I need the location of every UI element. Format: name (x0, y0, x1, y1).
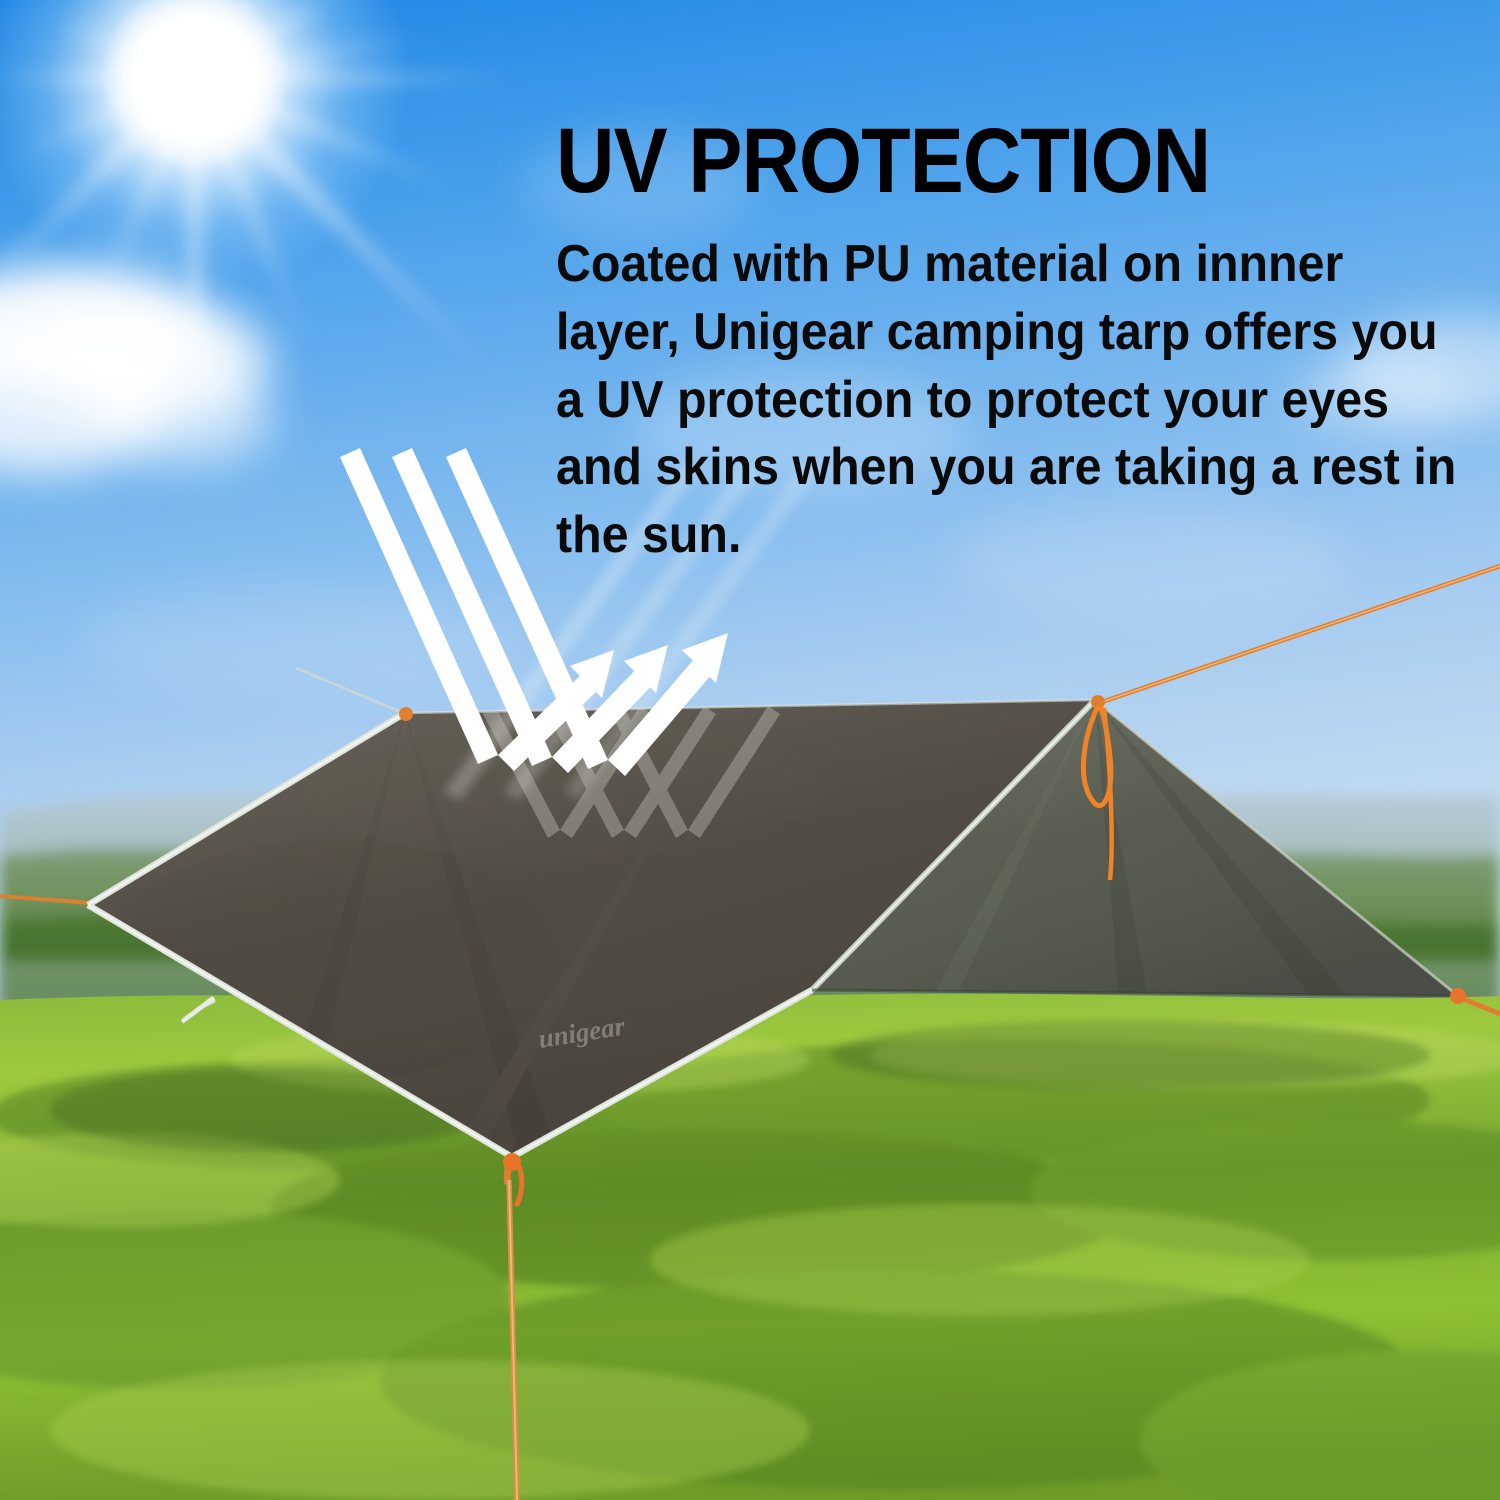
scene-illustration: unigear (0, 0, 1500, 1500)
product-feature-poster: unigear (0, 0, 1500, 1500)
tarp-corner-grommet-right (1450, 988, 1466, 1004)
grass-field (0, 994, 1500, 1500)
tarp-apex-grommet-left (399, 707, 413, 721)
